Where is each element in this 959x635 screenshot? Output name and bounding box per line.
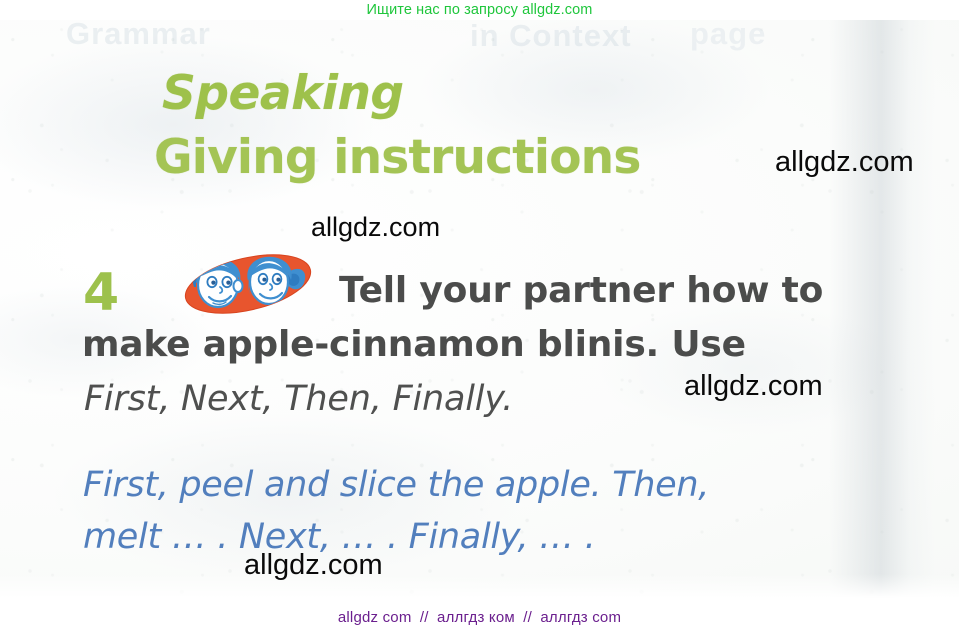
exercise-task-line-2: make apple-cinnamon blinis. Use bbox=[82, 327, 746, 363]
section-heading-speaking: Speaking bbox=[162, 70, 404, 117]
page-scan-area: Grammar in Context page Speaking Giving … bbox=[0, 20, 959, 600]
footer-text-3: аллгдз com bbox=[540, 609, 621, 626]
pair-work-icon bbox=[182, 253, 314, 315]
site-footer: allgdz com // аллгдз ком // аллгдз com bbox=[0, 600, 959, 635]
exercise-task-line-3: First, Next, Then, Finally. bbox=[84, 382, 513, 417]
exercise-task-line-1: Tell your partner how to bbox=[339, 273, 823, 309]
footer-separator-1: // bbox=[416, 609, 433, 626]
scanned-textbook-page: Ищите нас по запросу allgdz.com Grammar … bbox=[0, 0, 959, 635]
exercise-number: 4 bbox=[83, 267, 119, 319]
section-subheading-giving-instructions: Giving instructions bbox=[154, 134, 641, 181]
footer-text-2: аллгдз ком bbox=[437, 609, 515, 626]
site-top-banner: Ищите нас по запросу allgdz.com bbox=[0, 0, 959, 20]
footer-separator-2: // bbox=[519, 609, 536, 626]
footer-text-1: allgdz com bbox=[338, 609, 412, 626]
page-curl-shadow bbox=[829, 20, 959, 600]
answer-line-2: melt … . Next, … . Finally, … . bbox=[83, 520, 596, 555]
ghost-text-a: Grammar bbox=[66, 20, 211, 52]
ghost-text-b: in Context bbox=[470, 20, 632, 54]
answer-line-1: First, peel and slice the apple. Then, bbox=[83, 468, 709, 503]
ghost-text-c: page bbox=[690, 20, 766, 52]
page-bottom-fade bbox=[0, 574, 959, 600]
